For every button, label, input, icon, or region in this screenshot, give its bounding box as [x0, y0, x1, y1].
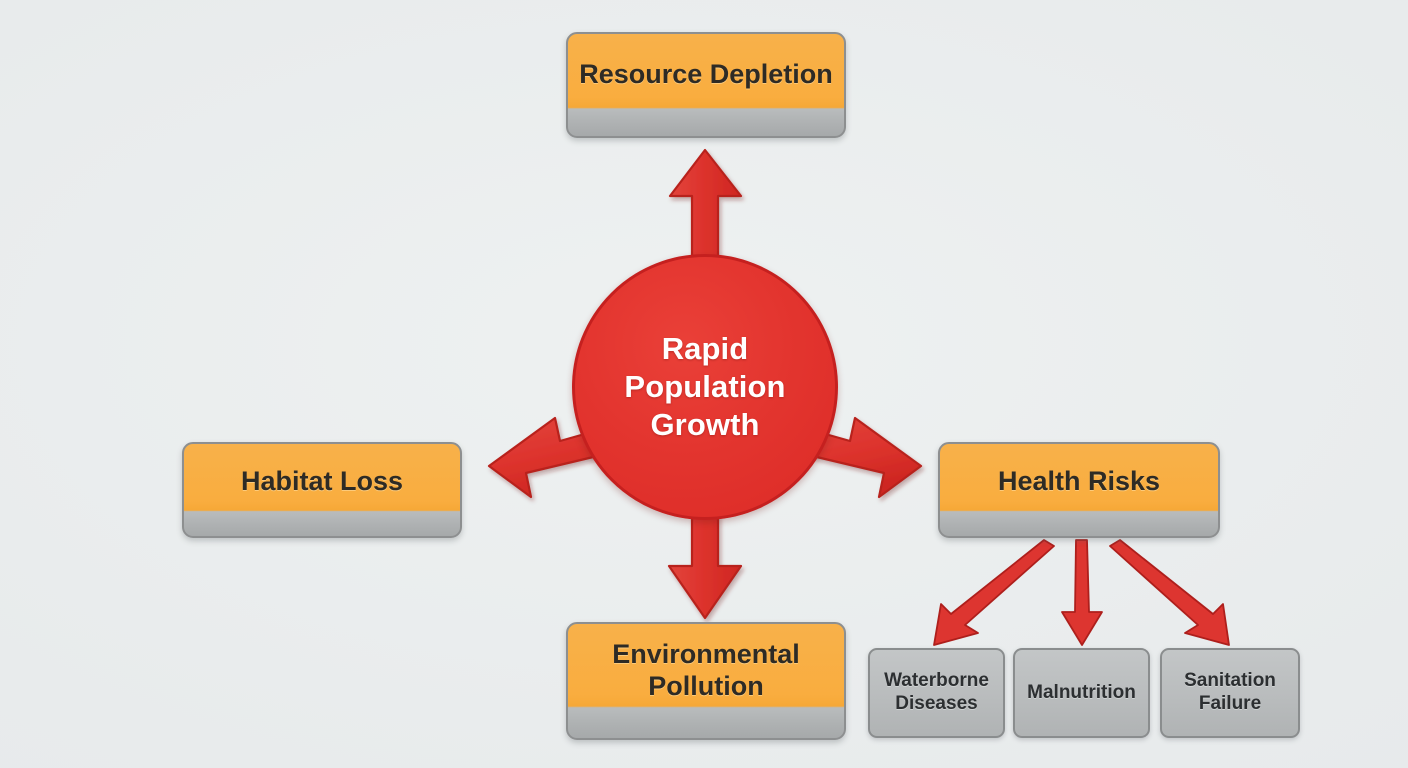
hub-label: Rapid Population Growth: [575, 330, 835, 443]
node-habitat-loss[interactable]: Habitat Loss: [182, 442, 462, 538]
arrow-health-risks-to-malnutrition: [1062, 540, 1102, 645]
subnode-waterborne-diseases[interactable]: Waterborne Diseases: [868, 648, 1005, 738]
concept-map-canvas: Resource Depletion Habitat Loss Rapid Po…: [0, 0, 1408, 768]
subnode-malnutrition[interactable]: Malnutrition: [1013, 648, 1150, 738]
arrow-health-risks-to-waterborne-diseases: [934, 540, 1054, 645]
hub-rapid-population-growth[interactable]: Rapid Population Growth: [572, 254, 838, 520]
subnode-malnutrition-label: Malnutrition: [1027, 682, 1136, 705]
node-environmental-pollution-label: Environmental Pollution: [568, 638, 844, 703]
node-environmental-pollution[interactable]: Environmental Pollution: [566, 622, 846, 740]
node-resource-depletion-label: Resource Depletion: [579, 58, 833, 90]
subnode-waterborne-diseases-label: Waterborne Diseases: [870, 670, 1003, 716]
subnode-sanitation-failure[interactable]: Sanitation Failure: [1160, 648, 1300, 738]
node-resource-depletion[interactable]: Resource Depletion: [566, 32, 846, 138]
arrow-health-risks-to-sanitation-failure: [1110, 540, 1229, 645]
node-habitat-loss-label: Habitat Loss: [241, 465, 403, 497]
node-health-risks[interactable]: Health Risks: [938, 442, 1220, 538]
node-health-risks-label: Health Risks: [998, 465, 1160, 497]
subnode-sanitation-failure-label: Sanitation Failure: [1162, 670, 1298, 716]
